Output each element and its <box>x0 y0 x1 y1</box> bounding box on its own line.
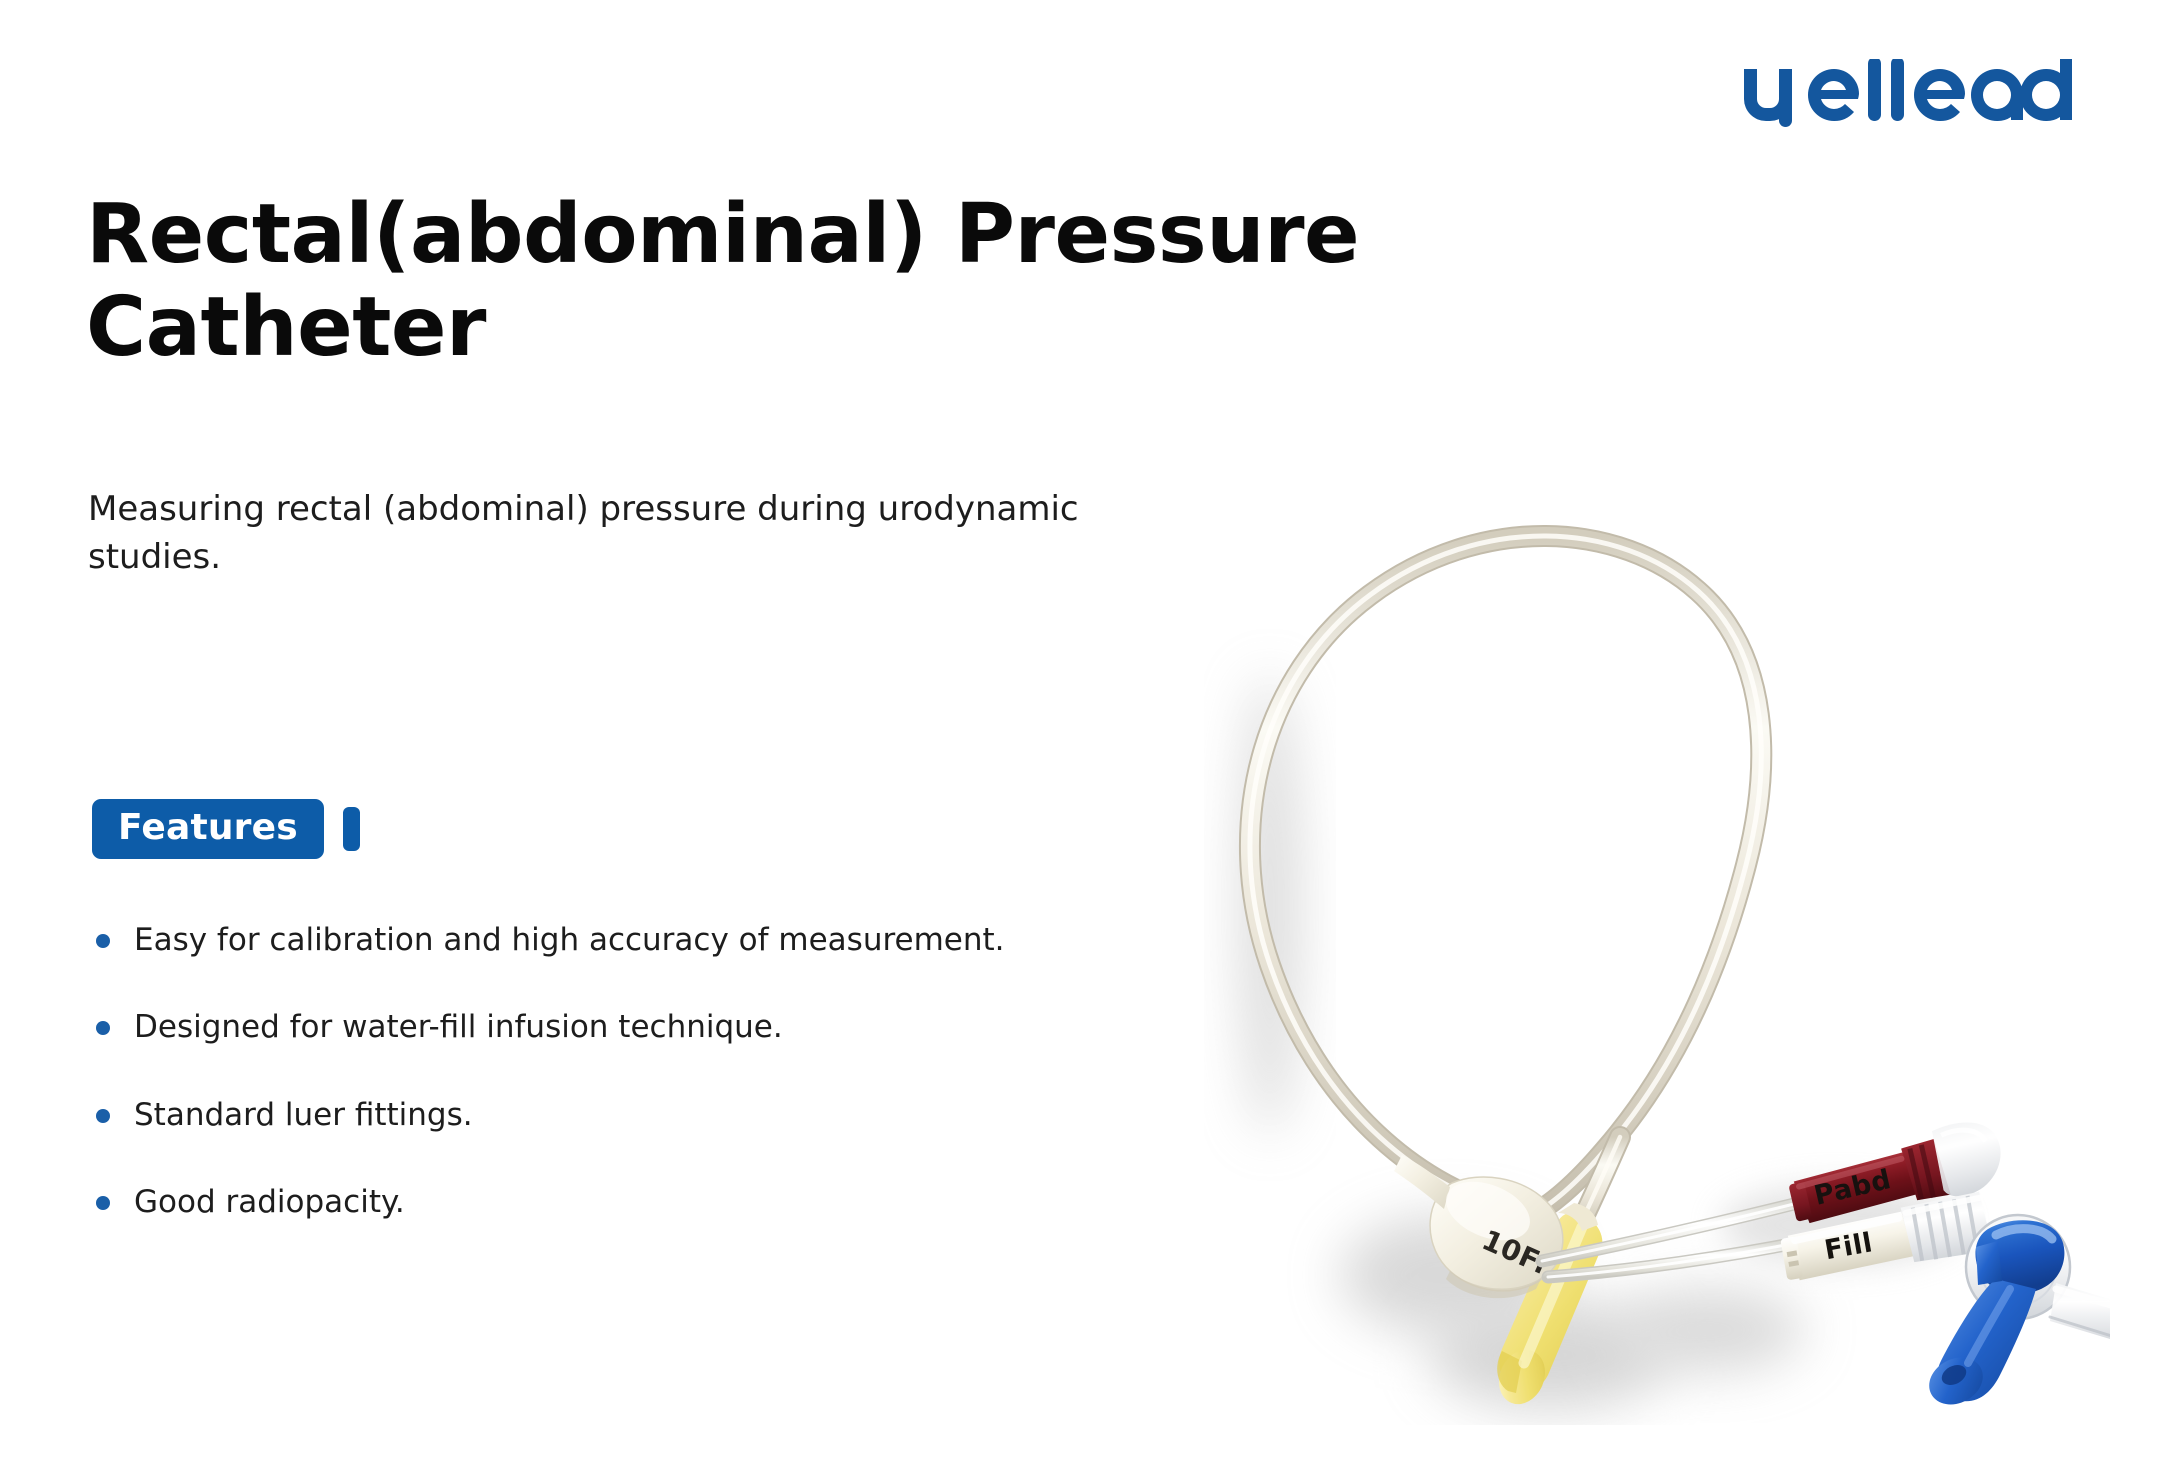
list-item-label: Good radiopacity. <box>134 1184 405 1220</box>
bullet-dot-icon <box>96 934 110 948</box>
features-badge-label: Features <box>92 799 324 859</box>
list-item: Standard luer fittings. <box>92 1095 1272 1135</box>
wellead-logo <box>1738 62 2078 134</box>
features-list: Easy for calibration and high accuracy o… <box>92 920 1272 1222</box>
list-item-label: Designed for water-fill infusion techniq… <box>134 1009 783 1045</box>
list-item: Easy for calibration and high accuracy o… <box>92 920 1272 960</box>
product-description: Measuring rectal (abdominal) pressure du… <box>88 485 1218 582</box>
features-accent-tick <box>343 807 360 851</box>
list-item-label: Standard luer fittings. <box>134 1097 473 1133</box>
product-shadow <box>1240 675 1960 1410</box>
product-datasheet-page: Rectal(abdominal) Pressure Catheter Meas… <box>0 0 2160 1467</box>
bullet-dot-icon <box>96 1196 110 1210</box>
features-heading: Features <box>92 796 360 862</box>
bullet-dot-icon <box>96 1109 110 1123</box>
list-item: Designed for water-fill infusion techniq… <box>92 1007 1272 1047</box>
catheter-shaft <box>1250 536 1761 1221</box>
list-item: Good radiopacity. <box>92 1182 1272 1222</box>
list-item-label: Easy for calibration and high accuracy o… <box>134 922 1005 958</box>
bullet-dot-icon <box>96 1021 110 1035</box>
product-photo: 10Fr <box>1150 345 2110 1425</box>
